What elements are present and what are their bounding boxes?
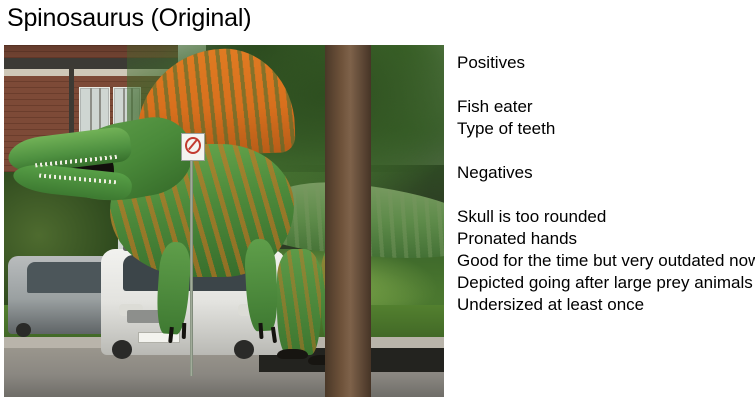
dino-claw <box>271 326 277 342</box>
negatives-heading: Negatives <box>457 162 751 184</box>
negative-item: Skull is too rounded <box>457 206 751 228</box>
spacer <box>457 74 751 96</box>
photo-scene <box>4 45 444 397</box>
negative-item: Good for the time but very outdated now <box>457 250 751 272</box>
negative-item: Undersized at least once <box>457 294 751 316</box>
positives-heading: Positives <box>457 52 751 74</box>
dino-claw <box>168 326 174 342</box>
spacer <box>457 140 751 162</box>
page-title: Spinosaurus (Original) <box>7 1 251 35</box>
positive-item: Fish eater <box>457 96 751 118</box>
no-parking-sign-icon <box>181 133 205 161</box>
spacer <box>457 184 751 206</box>
notes-column: Positives Fish eater Type of teeth Negat… <box>457 52 751 316</box>
sign-post <box>190 137 193 376</box>
negative-item: Pronated hands <box>457 228 751 250</box>
foreground-tree-trunk <box>325 45 371 397</box>
dino-foot <box>277 349 308 359</box>
positive-item: Type of teeth <box>457 118 751 140</box>
slide-root: Spinosaurus (Original) <box>0 0 755 411</box>
dino-claw <box>182 323 187 339</box>
spinosaurus-figure <box>4 45 444 397</box>
negative-item: Depicted going after large prey animals <box>457 272 751 294</box>
dino-leg <box>277 249 321 355</box>
spinosaurus-composite-photo[interactable] <box>4 45 444 397</box>
